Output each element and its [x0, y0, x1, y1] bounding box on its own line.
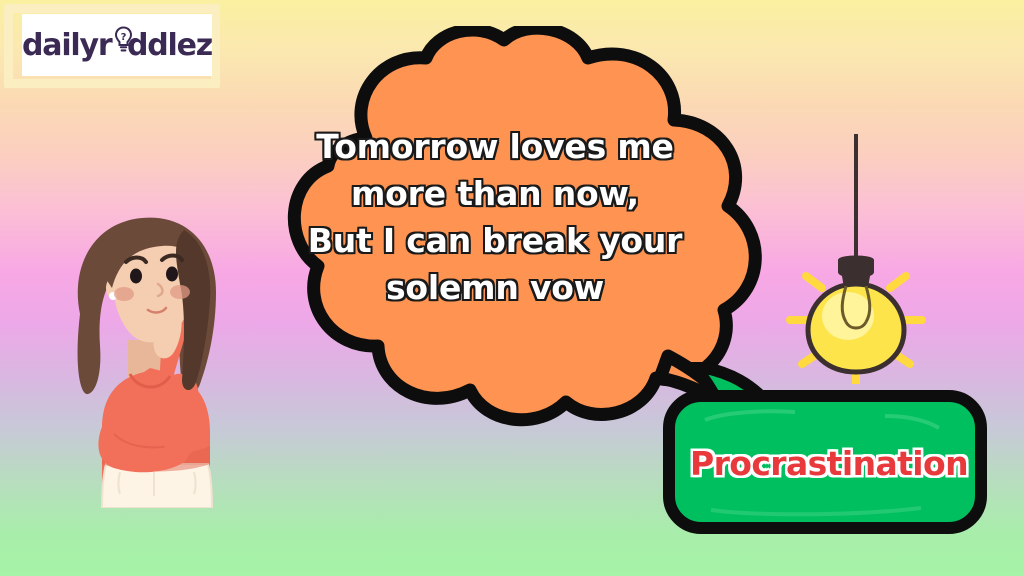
brand-logo[interactable]: dailyrddlez ?: [0, 0, 224, 92]
riddle-card: Tomorrow loves me more than now, But I c…: [0, 0, 1024, 576]
logo-plate: dailyrddlez ?: [22, 14, 212, 76]
logo-word-part2: ddlez: [127, 28, 212, 63]
svg-text:?: ?: [121, 32, 127, 43]
hanging-lightbulb-icon: [776, 134, 936, 384]
answer-speech-bubble: [655, 362, 995, 544]
logo-lightbulb-icon: ?: [114, 26, 133, 53]
logo-word-part1: dailyr: [22, 28, 111, 63]
